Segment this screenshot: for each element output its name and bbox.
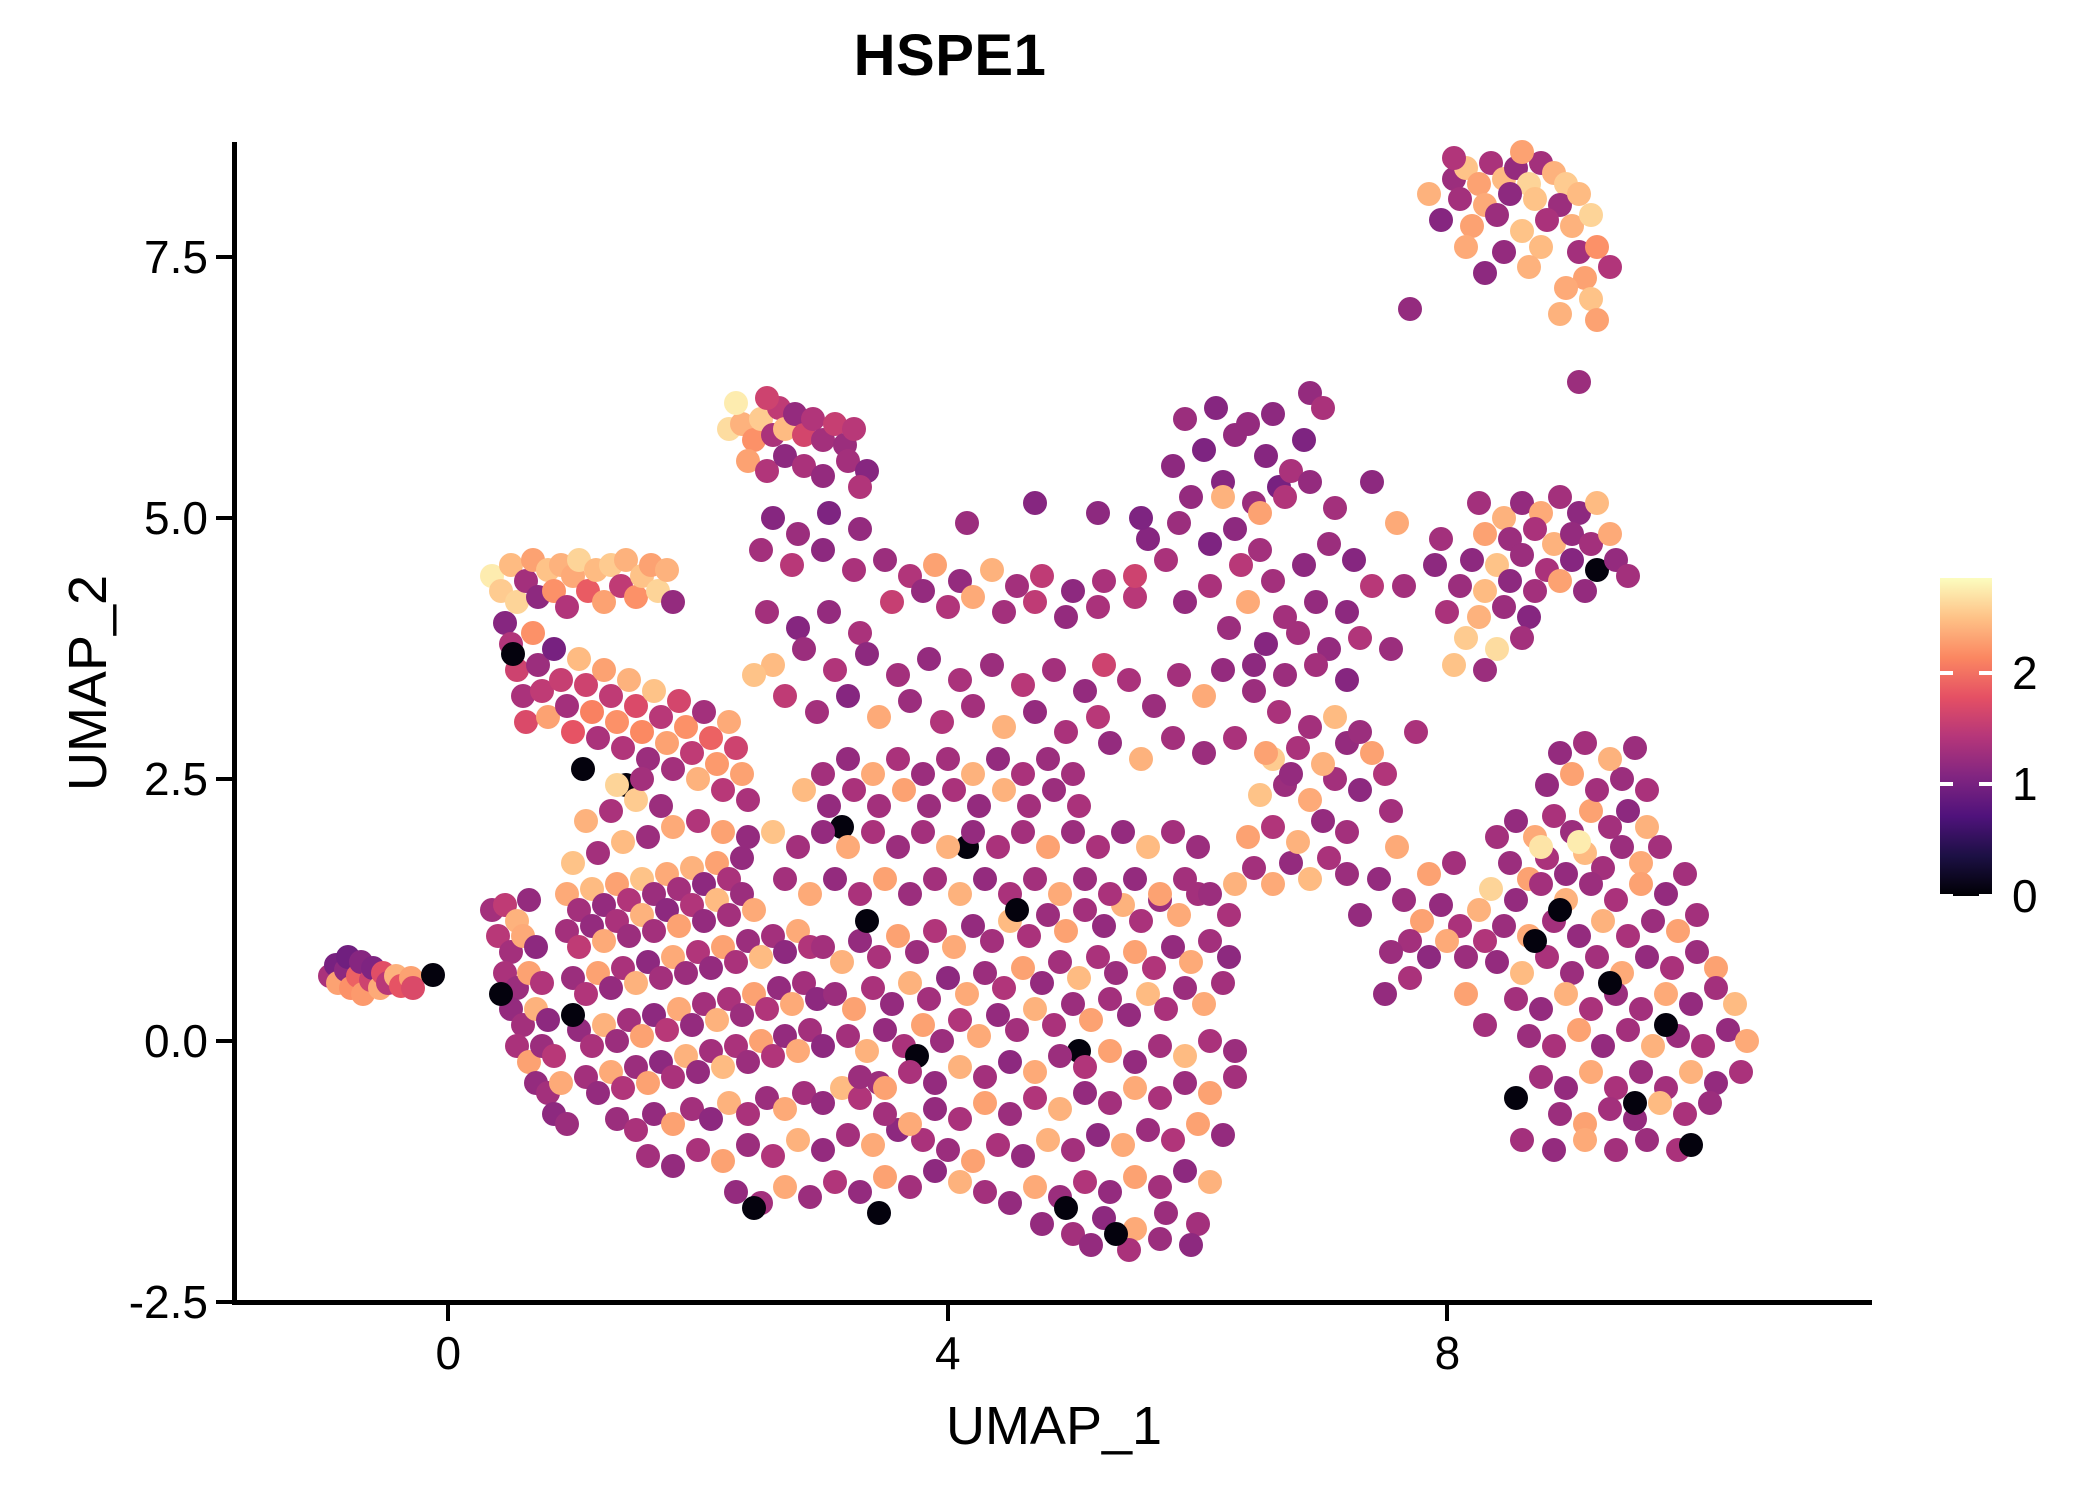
scatter-point — [817, 501, 841, 525]
x-tick-label: 8 — [1435, 1330, 1461, 1376]
scatter-point — [1079, 1008, 1103, 1032]
scatter-point — [1223, 1039, 1247, 1063]
scatter-point — [1367, 867, 1391, 891]
scatter-point — [1136, 1118, 1160, 1142]
scatter-point — [867, 1201, 891, 1225]
scatter-point — [1504, 888, 1528, 912]
scatter-point — [998, 1191, 1022, 1215]
scatter-point — [742, 663, 766, 687]
scatter-point — [1610, 767, 1634, 791]
scatter-point — [773, 684, 797, 708]
scatter-point — [636, 1071, 660, 1095]
scatter-point — [923, 1159, 947, 1183]
scatter-point — [1492, 240, 1516, 264]
scatter-point — [1679, 1133, 1703, 1157]
scatter-point — [1261, 872, 1285, 896]
scatter-point — [1079, 1233, 1103, 1257]
scatter-point — [1304, 590, 1328, 614]
scatter-point — [817, 600, 841, 624]
scatter-point — [1042, 658, 1066, 682]
scatter-point — [1379, 799, 1403, 823]
scatter-point — [998, 1050, 1022, 1074]
scatter-point — [1492, 595, 1516, 619]
scatter-point — [1154, 997, 1178, 1021]
scatter-point — [1298, 470, 1322, 494]
scatter-point — [521, 621, 545, 645]
scatter-point — [1192, 684, 1216, 708]
scatter-point — [1217, 945, 1241, 969]
scatter-point — [811, 820, 835, 844]
scatter-point — [1385, 511, 1409, 535]
scatter-point — [1648, 835, 1672, 859]
scatter-point — [1054, 605, 1078, 629]
scatter-point — [1729, 1060, 1753, 1084]
scatter-point — [717, 903, 741, 927]
scatter-point — [1248, 783, 1272, 807]
scatter-point — [1335, 862, 1359, 886]
scatter-point — [1298, 867, 1322, 891]
scatter-point — [1279, 762, 1303, 786]
scatter-point — [692, 700, 716, 724]
scatter-point — [936, 835, 960, 859]
scatter-point — [948, 882, 972, 906]
scatter-point — [1098, 1039, 1122, 1063]
scatter-point — [599, 976, 623, 1000]
scatter-point — [1142, 956, 1166, 980]
scatter-point — [1548, 302, 1572, 326]
scatter-point — [1373, 982, 1397, 1006]
scatter-point — [1423, 553, 1447, 577]
scatter-point — [1304, 653, 1328, 677]
scatter-point — [736, 1050, 760, 1074]
scatter-point — [1148, 1086, 1172, 1110]
scatter-point — [1173, 407, 1197, 431]
scatter-point — [1654, 882, 1678, 906]
scatter-point — [605, 773, 629, 797]
scatter-point — [1179, 1233, 1203, 1257]
y-tick-mark — [216, 1300, 232, 1304]
scatter-point — [1236, 412, 1260, 436]
scatter-point — [674, 961, 698, 985]
scatter-point — [917, 794, 941, 818]
scatter-point — [736, 788, 760, 812]
scatter-point — [680, 1013, 704, 1037]
scatter-point — [1616, 564, 1640, 588]
scatter-point — [973, 1180, 997, 1204]
scatter-point — [1485, 203, 1509, 227]
scatter-point — [1598, 747, 1622, 771]
scatter-point — [636, 825, 660, 849]
scatter-point — [1086, 1123, 1110, 1147]
scatter-point — [1323, 705, 1347, 729]
scatter-point — [1061, 579, 1085, 603]
scatter-point — [886, 747, 910, 771]
scatter-point — [599, 799, 623, 823]
scatter-point — [561, 851, 585, 875]
scatter-point — [842, 778, 866, 802]
scatter-point — [586, 1081, 610, 1105]
scatter-point — [1429, 208, 1453, 232]
scatter-point — [1017, 924, 1041, 948]
scatter-point — [711, 1149, 735, 1173]
scatter-point — [1161, 1128, 1185, 1152]
scatter-point — [811, 538, 835, 562]
scatter-point — [830, 950, 854, 974]
scatter-point — [611, 830, 635, 854]
scatter-point — [686, 1138, 710, 1162]
scatter-point — [1510, 140, 1534, 164]
scatter-point — [1292, 428, 1316, 452]
scatter-point — [649, 794, 673, 818]
scatter-point — [592, 658, 616, 682]
scatter-point — [617, 924, 641, 948]
scatter-point — [524, 935, 548, 959]
scatter-point — [1429, 893, 1453, 917]
scatter-point — [786, 835, 810, 859]
scatter-point — [1379, 940, 1403, 964]
scatter-point — [1123, 1076, 1147, 1100]
scatter-point — [1229, 553, 1253, 577]
scatter-point — [1442, 851, 1466, 875]
scatter-point — [1136, 527, 1160, 551]
scatter-point — [961, 1149, 985, 1173]
scatter-point — [1236, 825, 1260, 849]
scatter-point — [1217, 616, 1241, 640]
scatter-point — [1635, 1128, 1659, 1152]
x-tick-mark — [946, 1305, 950, 1321]
scatter-point — [811, 1138, 835, 1162]
scatter-point — [1735, 1029, 1759, 1053]
scatter-point — [936, 747, 960, 771]
scatter-point — [955, 511, 979, 535]
scatter-point — [611, 1076, 635, 1100]
scatter-point — [1454, 982, 1478, 1006]
scatter-point — [1585, 945, 1609, 969]
scatter-point — [624, 585, 648, 609]
colorbar-tick-mark — [1979, 782, 1992, 786]
page-title: HSPE1 — [0, 22, 1900, 89]
scatter-point — [1467, 491, 1491, 515]
scatter-point — [724, 736, 748, 760]
scatter-point — [1086, 705, 1110, 729]
scatter-point — [961, 820, 985, 844]
scatter-point — [1179, 950, 1203, 974]
scatter-point — [561, 1003, 585, 1027]
scatter-point — [961, 694, 985, 718]
scatter-point — [923, 553, 947, 577]
scatter-point — [823, 658, 847, 682]
scatter-point — [1123, 867, 1147, 891]
scatter-point — [1073, 679, 1097, 703]
x-tick-label: 0 — [436, 1330, 462, 1376]
scatter-point — [730, 1003, 754, 1027]
scatter-point — [855, 1039, 879, 1063]
scatter-point — [605, 1029, 629, 1053]
scatter-point — [1679, 992, 1703, 1016]
scatter-point — [514, 710, 538, 734]
scatter-point — [1548, 898, 1572, 922]
scatter-point — [536, 1008, 560, 1032]
scatter-point — [717, 710, 741, 734]
scatter-point — [836, 747, 860, 771]
scatter-point — [1273, 663, 1297, 687]
scatter-point — [1573, 731, 1597, 755]
scatter-point — [1261, 569, 1285, 593]
scatter-point — [1005, 898, 1029, 922]
scatter-point — [630, 1024, 654, 1048]
scatter-point — [1298, 715, 1322, 739]
scatter-point — [661, 590, 685, 614]
scatter-point — [992, 976, 1016, 1000]
scatter-point — [421, 963, 445, 987]
scatter-point — [1129, 909, 1153, 933]
scatter-point — [1529, 835, 1553, 859]
scatter-point — [1098, 1180, 1122, 1204]
scatter-plot-panel[interactable] — [236, 142, 1872, 1302]
scatter-point — [1186, 835, 1210, 859]
scatter-point — [1254, 632, 1278, 656]
scatter-point — [1448, 574, 1472, 598]
scatter-point — [1648, 1091, 1672, 1115]
scatter-point — [592, 929, 616, 953]
scatter-point — [1111, 1133, 1135, 1157]
scatter-point — [1348, 778, 1372, 802]
scatter-point — [580, 1034, 604, 1058]
scatter-point — [1242, 679, 1266, 703]
scatter-point — [1223, 726, 1247, 750]
scatter-point — [1517, 255, 1541, 279]
scatter-point — [1092, 653, 1116, 677]
scatter-point — [555, 1112, 579, 1136]
scatter-point — [1211, 485, 1235, 509]
scatter-point — [1629, 872, 1653, 896]
scatter-point — [1673, 862, 1697, 886]
scatter-point — [1104, 961, 1128, 985]
scatter-point — [755, 600, 779, 624]
scatter-point — [1042, 778, 1066, 802]
scatter-point — [1317, 532, 1341, 556]
scatter-point — [736, 1133, 760, 1157]
scatter-point — [842, 417, 866, 441]
scatter-point — [1616, 1018, 1640, 1042]
scatter-point — [667, 914, 691, 938]
scatter-point — [992, 715, 1016, 739]
scatter-point — [1211, 658, 1235, 682]
scatter-point — [1073, 1170, 1097, 1194]
scatter-point — [1573, 1128, 1597, 1152]
scatter-point — [1335, 668, 1359, 692]
scatter-point — [1429, 527, 1453, 551]
scatter-point — [1111, 820, 1135, 844]
scatter-point — [1542, 1034, 1566, 1058]
scatter-point — [786, 1039, 810, 1063]
scatter-point — [792, 637, 816, 661]
scatter-point — [961, 585, 985, 609]
scatter-point — [617, 668, 641, 692]
scatter-point — [1173, 590, 1197, 614]
scatter-point — [1104, 1222, 1128, 1246]
scatter-point — [549, 668, 573, 692]
scatter-point — [1198, 1029, 1222, 1053]
y-tick-mark — [216, 516, 232, 520]
scatter-point — [1510, 961, 1534, 985]
scatter-point — [1023, 1175, 1047, 1199]
scatter-point — [1011, 820, 1035, 844]
colorbar-legend[interactable] — [1940, 578, 1992, 896]
scatter-point — [749, 945, 773, 969]
scatter-point — [1073, 867, 1097, 891]
scatter-point — [1548, 741, 1572, 765]
scatter-point — [574, 982, 598, 1006]
scatter-point — [967, 794, 991, 818]
scatter-point — [624, 788, 648, 812]
scatter-point — [1591, 909, 1615, 933]
scatter-point — [867, 705, 891, 729]
scatter-point — [1567, 370, 1591, 394]
scatter-point — [561, 720, 585, 744]
scatter-point — [842, 997, 866, 1021]
scatter-point — [1023, 700, 1047, 724]
scatter-point — [1379, 637, 1403, 661]
scatter-point — [1573, 579, 1597, 603]
scatter-point — [1261, 815, 1285, 839]
scatter-point — [1498, 569, 1522, 593]
scatter-point — [1023, 590, 1047, 614]
scatter-point — [980, 929, 1004, 953]
scatter-point — [1011, 762, 1035, 786]
scatter-point — [1554, 276, 1578, 300]
scatter-point — [873, 1165, 897, 1189]
scatter-point — [973, 1065, 997, 1089]
scatter-point — [873, 1102, 897, 1126]
scatter-point — [1123, 585, 1147, 609]
x-axis-line — [232, 1300, 1872, 1305]
scatter-point — [1535, 773, 1559, 797]
y-axis-title: UMAP_2 — [57, 333, 119, 1033]
scatter-point — [1467, 898, 1491, 922]
scatter-point — [1548, 1102, 1572, 1126]
scatter-point — [1030, 971, 1054, 995]
scatter-point — [761, 820, 785, 844]
scatter-point — [1398, 297, 1422, 321]
scatter-point — [1123, 1165, 1147, 1189]
scatter-point — [1129, 506, 1153, 530]
scatter-point — [1567, 1018, 1591, 1042]
scatter-point — [880, 590, 904, 614]
scatter-point — [998, 1102, 1022, 1126]
scatter-point — [973, 867, 997, 891]
scatter-point — [1223, 1065, 1247, 1089]
scatter-point — [1036, 835, 1060, 859]
scatter-point — [848, 1065, 872, 1089]
scatter-point — [1579, 1060, 1603, 1084]
scatter-point — [1267, 700, 1291, 724]
scatter-point — [786, 1128, 810, 1152]
scatter-point — [1629, 997, 1653, 1021]
scatter-point — [1054, 1196, 1078, 1220]
scatter-point — [1404, 720, 1428, 744]
scatter-point — [873, 1076, 897, 1100]
scatter-point — [1254, 741, 1278, 765]
scatter-point — [1641, 909, 1665, 933]
scatter-point — [898, 1112, 922, 1136]
scatter-point — [1142, 694, 1166, 718]
scatter-point — [898, 1060, 922, 1084]
scatter-point — [1117, 668, 1141, 692]
scatter-point — [1167, 903, 1191, 927]
scatter-point — [1567, 924, 1591, 948]
scatter-point — [489, 982, 513, 1006]
scatter-point — [1635, 945, 1659, 969]
scatter-point — [1161, 454, 1185, 478]
scatter-point — [798, 882, 822, 906]
scatter-point — [1479, 877, 1503, 901]
scatter-point — [501, 642, 525, 666]
scatter-point — [1492, 914, 1516, 938]
scatter-point — [1148, 1227, 1172, 1251]
scatter-point — [1248, 538, 1272, 562]
scatter-point — [1554, 982, 1578, 1006]
scatter-point — [567, 935, 591, 959]
scatter-point — [1311, 396, 1335, 420]
scatter-point — [1311, 809, 1335, 833]
scatter-point — [1660, 956, 1684, 980]
colorbar-tick-label: 1 — [2012, 761, 2038, 807]
colorbar-tick-mark — [1979, 894, 1992, 898]
scatter-point — [1529, 1065, 1553, 1089]
y-tick-mark — [216, 255, 232, 259]
scatter-point — [730, 762, 754, 786]
scatter-point — [1242, 653, 1266, 677]
y-tick-label: -2.5 — [129, 1279, 208, 1325]
scatter-point — [1042, 1013, 1066, 1037]
colorbar-tick-mark — [1940, 894, 1953, 898]
scatter-point — [1236, 590, 1260, 614]
scatter-point — [948, 1055, 972, 1079]
scatter-point — [1311, 752, 1335, 776]
scatter-point — [1273, 485, 1297, 509]
scatter-point — [586, 841, 610, 865]
scatter-point — [1417, 862, 1441, 886]
scatter-point — [1679, 1060, 1703, 1084]
scatter-point — [855, 909, 879, 933]
scatter-point — [930, 710, 954, 734]
scatter-point — [567, 647, 591, 671]
scatter-point — [1542, 1138, 1566, 1162]
scatter-point — [942, 778, 966, 802]
scatter-point — [624, 971, 648, 995]
scatter-point — [1723, 992, 1747, 1016]
scatter-point — [724, 950, 748, 974]
scatter-point — [1254, 444, 1278, 468]
scatter-point — [1211, 971, 1235, 995]
scatter-point — [749, 538, 773, 562]
scatter-point — [867, 794, 891, 818]
scatter-point — [1598, 971, 1622, 995]
scatter-point — [1473, 522, 1497, 546]
scatter-point — [1054, 919, 1078, 943]
scatter-point — [1529, 235, 1553, 259]
scatter-point — [1473, 658, 1497, 682]
scatter-point — [1173, 1044, 1197, 1068]
scatter-point — [898, 882, 922, 906]
scatter-point — [1148, 1175, 1172, 1199]
scatter-point — [1179, 485, 1203, 509]
scatter-point — [973, 1091, 997, 1115]
scatter-point — [948, 668, 972, 692]
scatter-point — [955, 982, 979, 1006]
scatter-point — [1117, 1003, 1141, 1027]
